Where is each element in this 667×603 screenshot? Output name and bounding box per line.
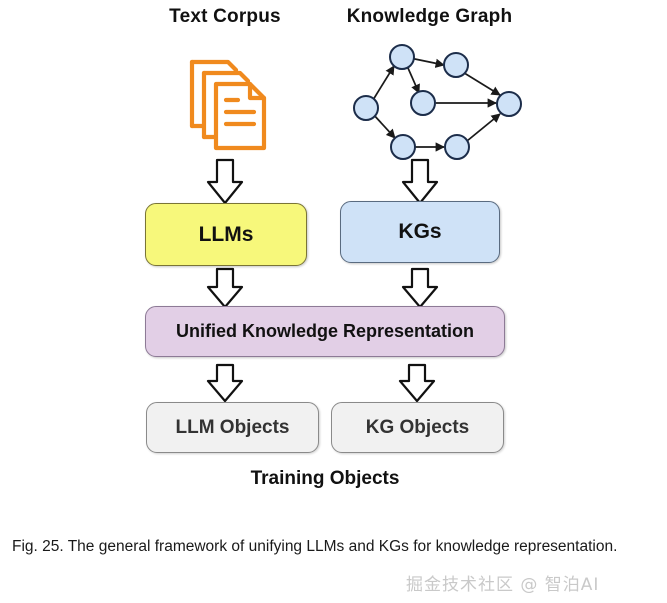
graph-node	[390, 45, 414, 69]
box-llms[interactable]: LLMs	[145, 203, 307, 266]
block-arrow-down-icon	[403, 269, 437, 307]
graph-node	[445, 135, 469, 159]
box-kg-objects[interactable]: KG Objects	[331, 402, 504, 453]
figure-diagram: Text Corpus Knowledge Graph	[0, 0, 667, 520]
label-training-objects: Training Objects	[145, 468, 505, 490]
graph-node	[354, 96, 378, 120]
documents-stack-icon	[182, 52, 282, 152]
graph-node	[444, 53, 468, 77]
graph-node	[391, 135, 415, 159]
heading-text-corpus: Text Corpus	[160, 6, 290, 28]
box-unified-knowledge-representation[interactable]: Unified Knowledge Representation	[145, 306, 505, 357]
box-kgs[interactable]: KGs	[340, 201, 500, 263]
block-arrow-down-icon	[208, 160, 242, 203]
block-arrow-down-icon	[208, 365, 242, 401]
block-arrow-down-icon	[403, 160, 437, 203]
watermark: 掘金技术社区 @ 智泊AI	[406, 570, 599, 595]
heading-knowledge-graph: Knowledge Graph	[337, 6, 522, 28]
block-arrow-down-icon	[208, 269, 242, 307]
box-llm-objects[interactable]: LLM Objects	[146, 402, 319, 453]
figure-caption: Fig. 25. The general framework of unifyi…	[12, 536, 662, 558]
block-arrow-down-icon	[400, 365, 434, 401]
directed-graph-icon	[340, 38, 535, 163]
graph-node	[497, 92, 521, 116]
graph-node	[411, 91, 435, 115]
